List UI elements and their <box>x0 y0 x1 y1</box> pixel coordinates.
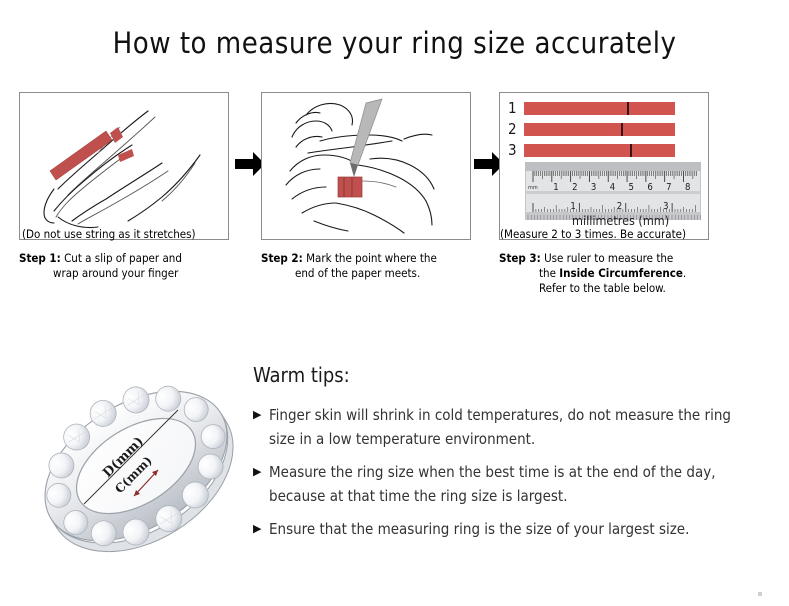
tip-text: Measure the ring size when the best time… <box>269 460 739 508</box>
triangle-bullet-icon: ▶ <box>253 403 269 427</box>
scan-artifact <box>758 592 762 596</box>
paper-strip-3 <box>524 144 675 157</box>
triangle-bullet-icon: ▶ <box>253 517 269 541</box>
strip-row: 3 <box>508 143 675 158</box>
strip-mark <box>621 123 623 136</box>
step-2-illustration-panel <box>261 92 471 240</box>
ruler-cm-tick: 6 <box>647 182 652 193</box>
ruler-cm-tick: 8 <box>685 182 690 193</box>
ruler-cm-tick: 3 <box>591 182 596 193</box>
step-3-line3: Refer to the table below. <box>499 281 727 296</box>
ruler-cm-tick: 7 <box>666 182 671 193</box>
step-3-label: Step 3: <box>499 251 541 265</box>
ring-size-guide-infographic: How to measure your ring size accurately <box>0 0 789 606</box>
step-2-line2: end of the paper meets. <box>261 266 489 281</box>
paper-strip-piece-b <box>118 149 134 162</box>
steps-row: Step 1: Cut a slip of paper and wrap aro… <box>0 92 789 342</box>
step-3: 1 2 3 <box>499 92 731 296</box>
strip-number: 1 <box>508 101 524 116</box>
tip-item: ▶ Finger skin will shrink in cold temper… <box>253 403 773 451</box>
step-1-line1: Cut a slip of paper and <box>64 251 182 265</box>
step-3-note: (Measure 2 to 3 times. Be accurate) <box>500 227 686 241</box>
strip-number: 2 <box>508 122 524 137</box>
step-1-note: (Do not use string as it stretches) <box>22 227 196 241</box>
ruler-unit-prefix: mm <box>528 185 538 191</box>
measured-strips-group: 1 2 3 <box>508 101 675 164</box>
strip-number: 3 <box>508 143 524 158</box>
step-1-caption: Step 1: Cut a slip of paper and wrap aro… <box>19 251 247 281</box>
strip-mark <box>630 144 632 157</box>
strip-row: 2 <box>508 122 675 137</box>
ruler-inch-tick: 1 <box>570 201 575 212</box>
inside-circumference-emphasis: Inside Circumference <box>559 266 683 280</box>
hands-marking-paper-with-pen-sketch <box>262 93 469 238</box>
step-1-line2: wrap around your finger <box>19 266 247 281</box>
ruler-inch-tick: 3 <box>663 201 668 212</box>
step-1-label: Step 1: <box>19 251 61 265</box>
ruler-cm-tick: 1 <box>553 182 558 193</box>
tip-text: Ensure that the measuring ring is the si… <box>269 517 689 541</box>
step-1-illustration-panel <box>19 92 229 240</box>
page-title: How to measure your ring size accurately <box>0 26 789 60</box>
tip-text: Finger skin will shrink in cold temperat… <box>269 403 739 451</box>
hand-with-paper-strip-sketch <box>20 93 227 238</box>
step-3-line2: the Inside Circumference. <box>499 266 727 281</box>
step-3-line1: Use ruler to measure the <box>544 251 673 265</box>
ruler-inch-tick: 2 <box>617 201 622 212</box>
step-3-illustration-panel: 1 2 3 <box>499 92 709 240</box>
step-2-line1: Mark the point where the <box>306 251 437 265</box>
ruler-unit-caption: millimetres (mm) <box>572 213 669 228</box>
ring-diagram: D(mm) C(mm) <box>22 352 250 580</box>
ruler: 12345678mm123 <box>525 162 701 220</box>
ruler-cm-tick: 4 <box>610 182 615 193</box>
strip-mark <box>627 102 629 115</box>
paper-strip-2 <box>524 123 675 136</box>
warm-tips-section: Warm tips: ▶ Finger skin will shrink in … <box>253 363 773 550</box>
step-2: Step 2: Mark the point where the end of … <box>261 92 493 281</box>
step-1: Step 1: Cut a slip of paper and wrap aro… <box>19 92 251 281</box>
pen-icon <box>350 99 382 177</box>
triangle-bullet-icon: ▶ <box>253 460 269 484</box>
tip-item: ▶ Measure the ring size when the best ti… <box>253 460 773 508</box>
ruler-cm-tick: 5 <box>629 182 634 193</box>
strip-row: 1 <box>508 101 675 116</box>
paper-strip-1 <box>524 102 675 115</box>
step-2-label: Step 2: <box>261 251 303 265</box>
ruler-cm-tick: 2 <box>572 182 577 193</box>
warm-tips-heading: Warm tips: <box>253 363 773 387</box>
paper-strip-wrapped <box>338 177 362 197</box>
ruler-graphic: 12345678mm123 <box>525 162 701 220</box>
step-2-caption: Step 2: Mark the point where the end of … <box>261 251 489 281</box>
step-3-caption: Step 3: Use ruler to measure the the Ins… <box>499 251 727 296</box>
tip-item: ▶ Ensure that the measuring ring is the … <box>253 517 773 541</box>
